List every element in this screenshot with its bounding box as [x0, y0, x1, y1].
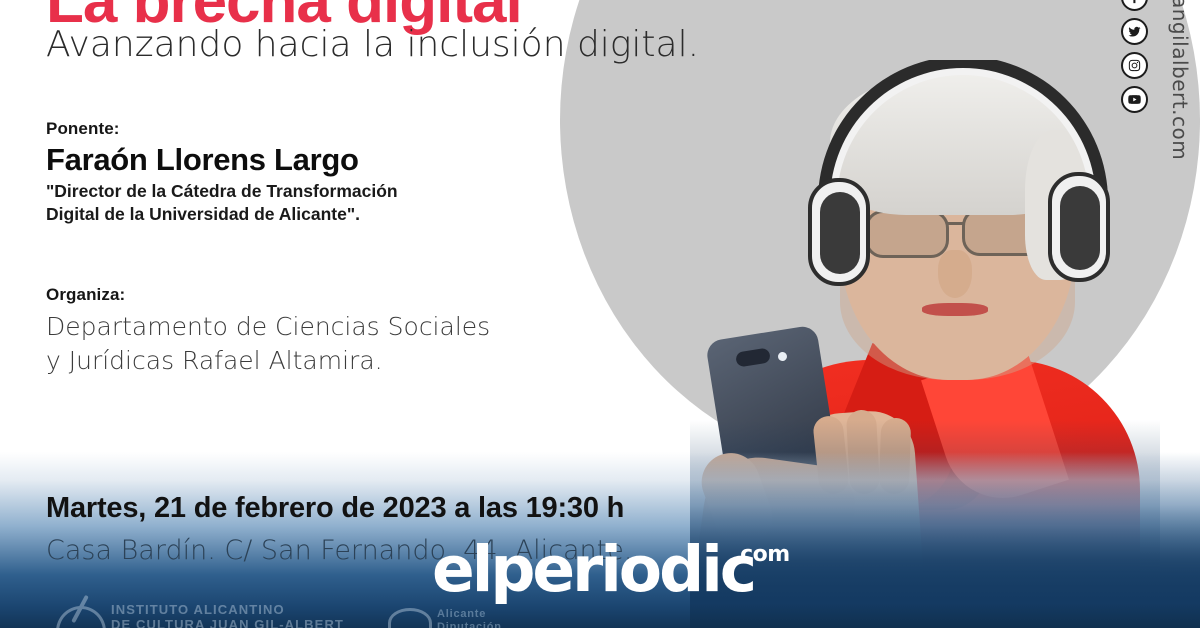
logo-dip-text: Alicante Diputación [437, 608, 502, 628]
poster-canvas: La brecha digital Avanzando hacia la inc… [0, 0, 1200, 628]
speaker-label: Ponente: [46, 119, 566, 139]
watermark-name: elperiodic [432, 540, 754, 600]
organizer-line-2: y Jurídicas Rafael Altamira. [46, 344, 566, 378]
logo-dip-line-2: Diputación [437, 621, 502, 628]
speaker-block: Ponente: Faraón Llorens Largo "Director … [46, 119, 566, 225]
headphone-cup-left-inner [820, 192, 860, 274]
logo-iac-line-2: DE CULTURA JUAN GIL-ALBERT [111, 618, 344, 628]
speaker-role-line-1: "Director de la Cátedra de Transformació… [46, 180, 566, 202]
facebook-icon[interactable] [1121, 0, 1148, 11]
site-url-vertical[interactable]: angilalbert.com [1168, 0, 1192, 160]
twitter-icon[interactable] [1121, 18, 1148, 45]
speaker-name: Faraón Llorens Largo [46, 143, 566, 176]
nose-shape [938, 250, 972, 298]
speaker-role-line-2: Digital de la Universidad de Alicante". [46, 203, 566, 225]
logo-iac-text: INSTITUTO ALICANTINO DE CULTURA JUAN GIL… [111, 603, 344, 628]
logo-dip-line-1: Alicante [437, 608, 502, 621]
elperiodic-watermark: elperiodic com [432, 540, 790, 600]
logo-iac-line-1: INSTITUTO ALICANTINO [111, 603, 344, 618]
institutional-logos: INSTITUTO ALICANTINO DE CULTURA JUAN GIL… [56, 598, 502, 628]
poster-subtitle: Avanzando hacia la inclusión digital. [46, 24, 699, 65]
mouth-shape [922, 303, 988, 316]
event-date: Martes, 21 de febrero de 2023 a las 19:3… [46, 492, 624, 525]
diputacion-logo-icon [386, 604, 428, 628]
gil-albert-logo-icon [56, 598, 102, 628]
organizer-line-1: Departamento de Ciencias Sociales [46, 310, 566, 344]
organizer-label: Organiza: [46, 285, 566, 305]
logo-item-diputacion: Alicante Diputación [386, 604, 502, 628]
social-links-rail[interactable] [1121, 0, 1148, 113]
youtube-icon[interactable] [1121, 86, 1148, 113]
logo-item-iac: INSTITUTO ALICANTINO DE CULTURA JUAN GIL… [56, 598, 344, 628]
watermark-tld: com [740, 542, 790, 567]
organizer-block: Organiza: Departamento de Ciencias Socia… [46, 285, 566, 377]
instagram-icon[interactable] [1121, 52, 1148, 79]
headphone-cup-right-inner [1060, 186, 1100, 270]
